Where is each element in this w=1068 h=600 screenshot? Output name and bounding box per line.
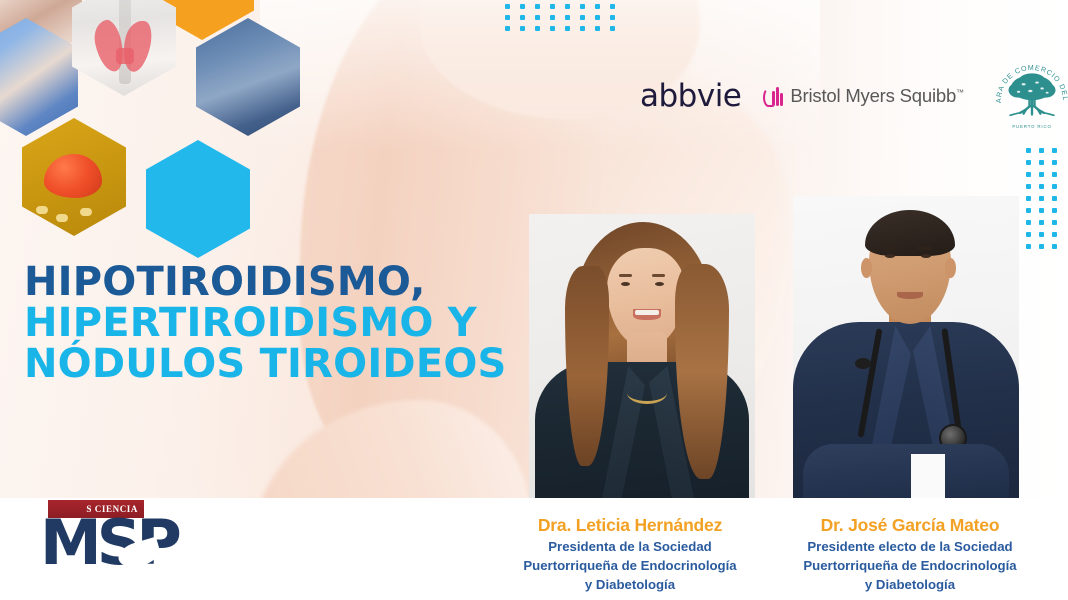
decor-dot bbox=[1052, 160, 1057, 165]
decor-dot bbox=[580, 4, 585, 9]
decor-dot bbox=[535, 26, 540, 31]
decor-dot bbox=[1026, 172, 1031, 177]
decor-dot bbox=[1026, 148, 1031, 153]
decor-dot bbox=[1039, 196, 1044, 201]
decor-dot bbox=[520, 26, 525, 31]
bms-hand-icon bbox=[763, 85, 783, 108]
decor-dot bbox=[1039, 220, 1044, 225]
decor-dot bbox=[1052, 196, 1057, 201]
decor-dot bbox=[1039, 148, 1044, 153]
decor-dot bbox=[595, 26, 600, 31]
decor-dot bbox=[535, 15, 540, 20]
hex-image-thyroid-scan bbox=[72, 0, 176, 96]
decor-dot bbox=[1026, 160, 1031, 165]
hexagon-collage bbox=[0, 0, 300, 230]
decor-dot bbox=[1026, 196, 1031, 201]
decor-dot bbox=[595, 4, 600, 9]
abbvie-logo: abbvie bbox=[640, 78, 741, 114]
decor-dot bbox=[520, 4, 525, 9]
decor-dot bbox=[505, 15, 510, 20]
decor-dot bbox=[1052, 148, 1057, 153]
decor-dot bbox=[535, 4, 540, 9]
page-title: HIPOTIROIDISMO, HIPERTIROIDISMO Y NÓDULO… bbox=[24, 262, 534, 386]
sponsor-logos: abbvie Bristol Myers Squibb™ CÁMARA DE C… bbox=[640, 62, 1040, 130]
speaker-1-role-line-1: Presidenta de la Sociedad bbox=[480, 539, 780, 556]
decor-dot bbox=[1052, 232, 1057, 237]
speaker-1-role-line-3: y Diabetología bbox=[480, 577, 780, 594]
decor-dot bbox=[580, 26, 585, 31]
dot-grid-right bbox=[1026, 148, 1066, 258]
decor-dot bbox=[1026, 220, 1031, 225]
decor-dot bbox=[610, 26, 615, 31]
decor-dot bbox=[565, 4, 570, 9]
decor-dot bbox=[1026, 232, 1031, 237]
speaker-2-role-line-1: Presidente electo de la Sociedad bbox=[760, 539, 1060, 556]
decor-dot bbox=[1039, 160, 1044, 165]
decor-dot bbox=[1039, 244, 1044, 249]
dot-grid-top bbox=[505, 4, 625, 44]
decor-dot bbox=[550, 15, 555, 20]
speaker-1-name: Dra. Leticia Hernández bbox=[480, 515, 780, 537]
decor-dot bbox=[505, 4, 510, 9]
speaker-2-name: Dr. José García Mateo bbox=[760, 515, 1060, 537]
speaker-2-role-line-3: y Diabetología bbox=[760, 577, 1060, 594]
promo-slide: abbvie Bristol Myers Squibb™ CÁMARA DE C… bbox=[0, 0, 1068, 600]
decor-dot bbox=[565, 26, 570, 31]
msp-logo: S CIENCIA MSP bbox=[26, 498, 216, 590]
decor-dot bbox=[1026, 244, 1031, 249]
camara-de-comercio-del-sur-logo: CÁMARA DE COMERCIO DEL SUR bbox=[990, 54, 1068, 138]
chamber-tree-icon: CÁMARA DE COMERCIO DEL SUR bbox=[990, 54, 1068, 138]
speaker-caption-2: Dr. José García Mateo Presidente electo … bbox=[760, 515, 1060, 594]
bristol-myers-squibb-logo: Bristol Myers Squibb™ bbox=[763, 85, 963, 108]
decor-dot bbox=[1039, 232, 1044, 237]
speaker-photo-leticia-hernandez bbox=[529, 214, 755, 501]
decor-dot bbox=[505, 26, 510, 31]
decor-dot bbox=[610, 15, 615, 20]
title-line-2: HIPERTIROIDISMO Y bbox=[24, 303, 534, 344]
bms-wordmark: Bristol Myers Squibb™ bbox=[790, 85, 963, 107]
speaker-1-role-line-2: Puertorriqueña de Endocrinología bbox=[480, 558, 780, 575]
hex-image-woman-neck bbox=[196, 18, 300, 136]
decor-dot bbox=[520, 15, 525, 20]
speaker-photo-jose-garcia-mateo bbox=[793, 196, 1019, 501]
decor-dot bbox=[610, 4, 615, 9]
decor-dot bbox=[1052, 244, 1057, 249]
decor-dot bbox=[595, 15, 600, 20]
decor-dot bbox=[1039, 208, 1044, 213]
svg-text:PUERTO RICO: PUERTO RICO bbox=[1012, 124, 1051, 129]
decor-dot bbox=[1052, 172, 1057, 177]
decor-dot bbox=[565, 15, 570, 20]
hex-image-thyroid-model bbox=[22, 118, 126, 236]
decor-dot bbox=[550, 26, 555, 31]
decor-dot bbox=[1039, 172, 1044, 177]
bms-trademark-icon: ™ bbox=[956, 88, 964, 97]
decor-dot bbox=[1039, 184, 1044, 189]
speaker-caption-1: Dra. Leticia Hernández Presidenta de la … bbox=[480, 515, 780, 594]
decor-dot bbox=[1052, 220, 1057, 225]
title-line-1: HIPOTIROIDISMO, bbox=[24, 262, 534, 303]
decor-dot bbox=[1026, 208, 1031, 213]
decor-dot bbox=[1052, 208, 1057, 213]
decor-dot bbox=[1026, 184, 1031, 189]
decor-dot bbox=[550, 4, 555, 9]
decor-dot bbox=[580, 15, 585, 20]
decor-dot bbox=[1052, 184, 1057, 189]
title-line-3: NÓDULOS TIROIDEOS bbox=[24, 344, 534, 385]
speaker-2-role-line-2: Puertorriqueña de Endocrinología bbox=[760, 558, 1060, 575]
